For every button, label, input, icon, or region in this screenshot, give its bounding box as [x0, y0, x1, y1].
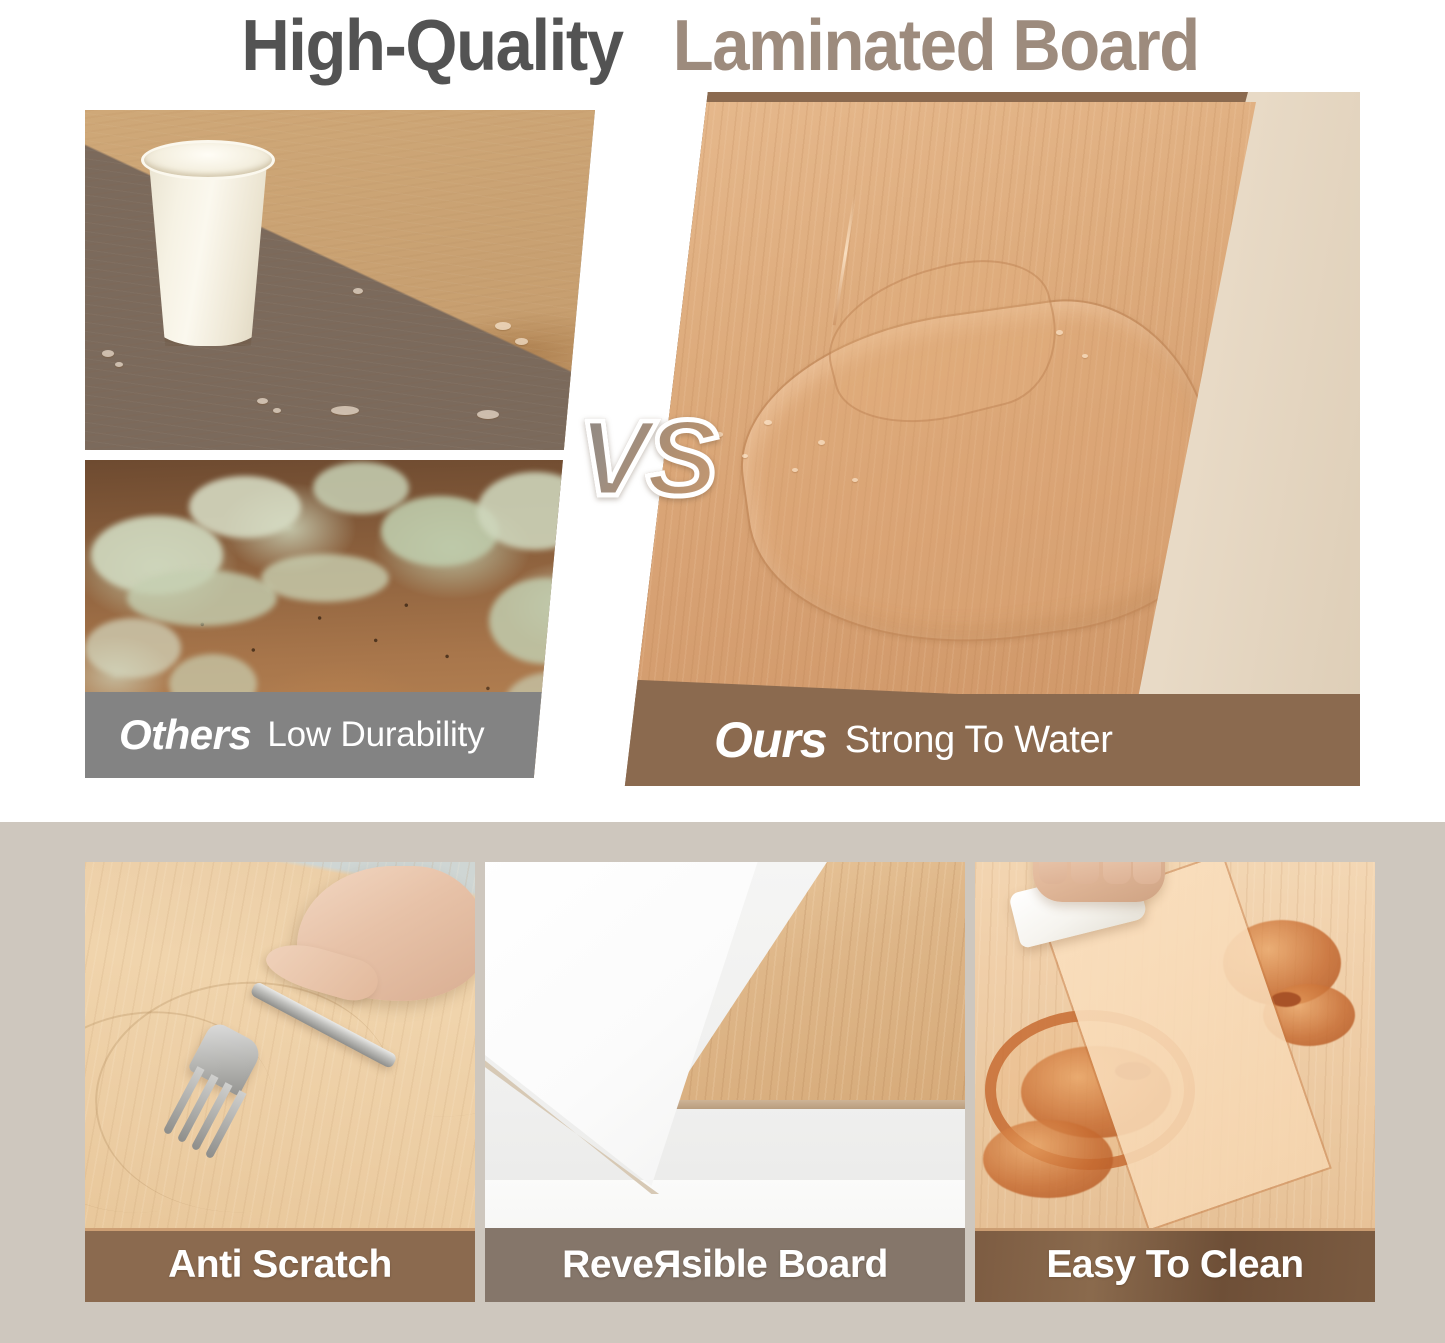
others-panel: Others Low Durability: [85, 110, 595, 778]
caption-top-highlight: [975, 1228, 1375, 1231]
others-sublabel: Low Durability: [267, 715, 484, 755]
spill-glint: [273, 408, 281, 413]
water-streak: [833, 195, 857, 326]
mold-patch: [477, 472, 593, 550]
mold-patch: [85, 618, 181, 678]
spill-glint: [257, 398, 268, 404]
sauce-stain: [1271, 992, 1301, 1007]
caption-top-highlight: [85, 1228, 475, 1231]
water-droplet: [742, 454, 748, 458]
water-beading-photo: [606, 92, 1360, 704]
ours-label: Ours: [714, 711, 827, 769]
page-title-part1: High-Quality: [241, 10, 622, 82]
paper-cup-rim: [141, 140, 275, 180]
mold-patch: [313, 462, 409, 514]
anti-scratch-caption-text: Anti Scratch: [168, 1243, 392, 1287]
finger: [1071, 862, 1099, 884]
reversible-board-caption: ReveЯsible Board: [485, 1228, 965, 1302]
water-droplet: [818, 440, 825, 445]
spill-glint: [353, 288, 363, 294]
others-caption-bar: Others Low Durability: [85, 692, 595, 778]
photo-divider: [84, 450, 591, 460]
reversible-board-caption-text: ReveЯsible Board: [562, 1243, 888, 1287]
anti-scratch-caption: Anti Scratch: [85, 1228, 475, 1302]
vs-badge: VS: [578, 404, 714, 512]
water-droplet: [764, 420, 772, 425]
product-infographic: High-Quality Laminated Board: [0, 0, 1445, 1343]
water-droplet: [792, 468, 798, 472]
finger: [1103, 862, 1131, 884]
water-droplet: [1082, 354, 1088, 358]
page-title: High-Quality Laminated Board: [0, 0, 1445, 92]
spill-glint: [477, 410, 499, 419]
ours-sublabel: Strong To Water: [845, 719, 1113, 762]
spilled-cup-photo: [85, 110, 595, 450]
mold-patch: [127, 570, 277, 626]
features-grid: Anti Scratch ReveЯsible Board: [85, 862, 1365, 1302]
water-droplet: [852, 478, 858, 482]
spill-glint: [102, 350, 114, 357]
spill-glint: [331, 406, 359, 415]
spill-glint: [515, 338, 528, 345]
mold-patch: [189, 476, 301, 538]
spill-glint: [495, 322, 511, 330]
spill-glint: [115, 362, 123, 367]
features-section: Anti Scratch ReveЯsible Board: [0, 822, 1445, 1343]
finger: [1039, 862, 1067, 884]
feature-card-anti-scratch: Anti Scratch: [85, 862, 475, 1302]
mold-patch: [261, 554, 389, 602]
water-droplet: [1056, 330, 1063, 335]
water-droplet: [716, 432, 723, 437]
feature-card-easy-to-clean: Easy To Clean: [975, 862, 1375, 1302]
hand: [1033, 862, 1165, 902]
wood-panel-edge: [665, 1100, 965, 1109]
comparison-section: Others Low Durability: [0, 92, 1445, 794]
ours-caption-bar: Ours Strong To Water: [606, 694, 1360, 786]
feature-card-reversible-board: ReveЯsible Board: [485, 862, 965, 1302]
others-label: Others: [119, 711, 251, 759]
easy-to-clean-caption-text: Easy To Clean: [1046, 1243, 1303, 1287]
finger: [1133, 862, 1161, 884]
sauce-stain: [983, 1120, 1113, 1198]
ours-panel: Ours Strong To Water: [606, 92, 1360, 786]
easy-to-clean-caption: Easy To Clean: [975, 1228, 1375, 1302]
page-title-part2: Laminated Board: [672, 10, 1198, 82]
